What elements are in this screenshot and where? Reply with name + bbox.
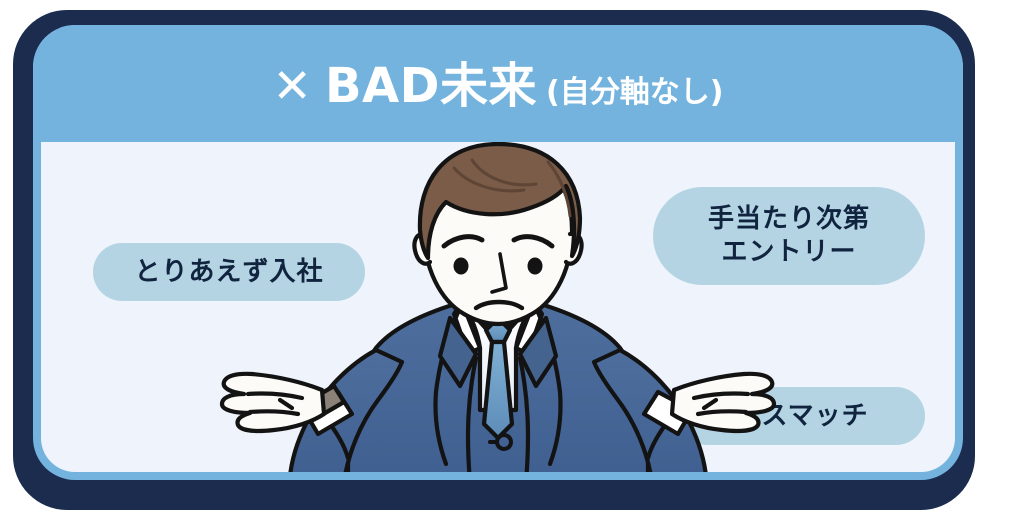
collar-right (516, 302, 542, 354)
cross-mark-icon: ✕ (273, 63, 312, 110)
mouth (476, 302, 522, 308)
eye-left (454, 258, 469, 275)
pill-mismatch: ミスマッチ (678, 387, 925, 445)
lapel-right (534, 304, 561, 464)
tie-blade (484, 342, 512, 438)
pill-join-anyway-label: とりあえず入社 (134, 256, 323, 289)
page-title: ✕ BAD未来 (自分軸なし) (273, 62, 724, 110)
lapel-left (435, 304, 462, 464)
jacket-button (497, 435, 511, 449)
cuff-left (304, 392, 352, 434)
pill-join-anyway: とりあえず入社 (93, 243, 365, 301)
neck (462, 270, 534, 321)
dress-shirt (462, 302, 534, 410)
title-subtitle-text: (自分軸なし) (546, 78, 723, 108)
hair (420, 144, 580, 258)
pill-entry-spree: 手当たり次第 エントリー (653, 187, 925, 285)
nose (492, 254, 506, 292)
lapel-notch-left (440, 318, 476, 386)
ear-right (566, 234, 582, 264)
ear-left (414, 234, 430, 264)
title-main-text: BAD未来 (325, 62, 537, 110)
pill-entry-spree-line1: 手当たり次第 (708, 203, 870, 236)
pill-entry-spree-label: 手当たり次第 エントリー (708, 203, 870, 269)
eyebrow-left (444, 237, 482, 246)
eye-right (528, 258, 543, 275)
pill-mismatch-label: ミスマッチ (734, 400, 868, 433)
illustration-card-canvas: ✕ BAD未来 (自分軸なし) とりあえず入社 手当たり次第 エントリー ミスマ… (0, 0, 1016, 520)
collar-left (454, 302, 480, 354)
face (424, 148, 572, 324)
card-header: ✕ BAD未来 (自分軸なし) (33, 25, 963, 142)
lapel-notch-right (520, 318, 556, 386)
eyebrow-right (514, 237, 552, 246)
tie-knot (486, 318, 510, 342)
arm-left-sleeve (290, 350, 402, 472)
card-inner-frame: ✕ BAD未来 (自分軸なし) とりあえず入社 手当たり次第 エントリー ミスマ… (33, 25, 963, 480)
wristwatch (310, 386, 344, 416)
card-body: とりあえず入社 手当たり次第 エントリー ミスマッチ (41, 142, 955, 472)
hand-left (222, 374, 324, 431)
pill-entry-spree-line2: エントリー (708, 236, 870, 269)
suit-jacket (348, 302, 648, 472)
